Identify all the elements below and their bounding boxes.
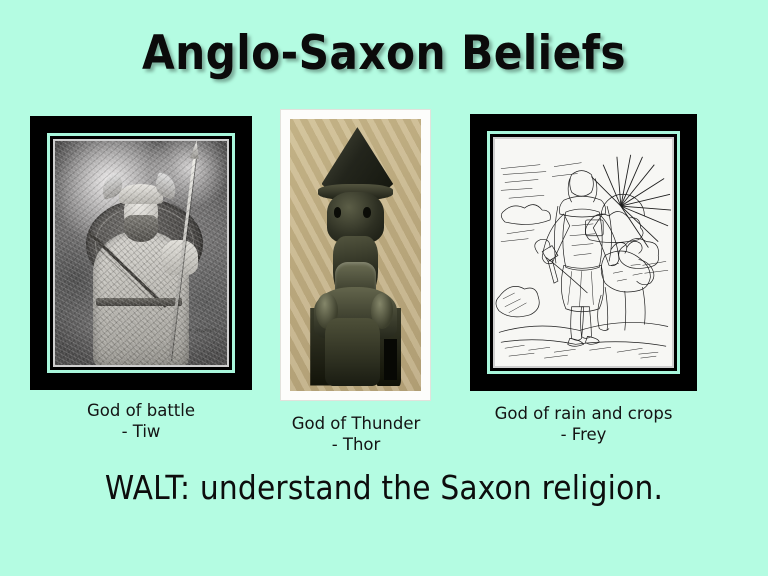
image-frame-frey[interactable]: [470, 114, 697, 391]
frey-engraving: [495, 139, 672, 366]
tiw-artist-signature: F. Stassen: [188, 327, 217, 334]
frame-mat-inner-thor: [290, 119, 421, 391]
thor-legs: [325, 318, 380, 385]
frame-mat-mint-frey: [487, 131, 680, 374]
caption-thor: God of Thunder - Thor: [266, 414, 446, 455]
thor-statue: [308, 127, 402, 385]
image-frame-thor[interactable]: [281, 110, 430, 400]
thor-eye-left: [334, 207, 342, 217]
caption-tiw: God of battle - Tiw: [30, 401, 252, 442]
frame-mat-inner-frey: [493, 137, 674, 368]
thor-shadow: [384, 339, 397, 380]
artwork-frey: [495, 139, 672, 366]
frame-mat-mint-tiw: F. Stassen: [47, 133, 235, 373]
page-title: Anglo-Saxon Beliefs: [0, 26, 768, 81]
frame-mat-inner-tiw: F. Stassen: [53, 139, 229, 367]
thor-eye-right: [363, 207, 371, 217]
artwork-thor: [290, 119, 421, 391]
thor-conical-helmet: [322, 127, 394, 192]
learning-objective: WALT: understand the Saxon religion.: [0, 468, 768, 507]
artwork-tiw: F. Stassen: [55, 141, 227, 365]
caption-frey: God of rain and crops - Frey: [470, 404, 697, 445]
image-frame-tiw[interactable]: F. Stassen: [30, 116, 252, 390]
slide-canvas: Anglo-Saxon Beliefs: [0, 0, 768, 576]
